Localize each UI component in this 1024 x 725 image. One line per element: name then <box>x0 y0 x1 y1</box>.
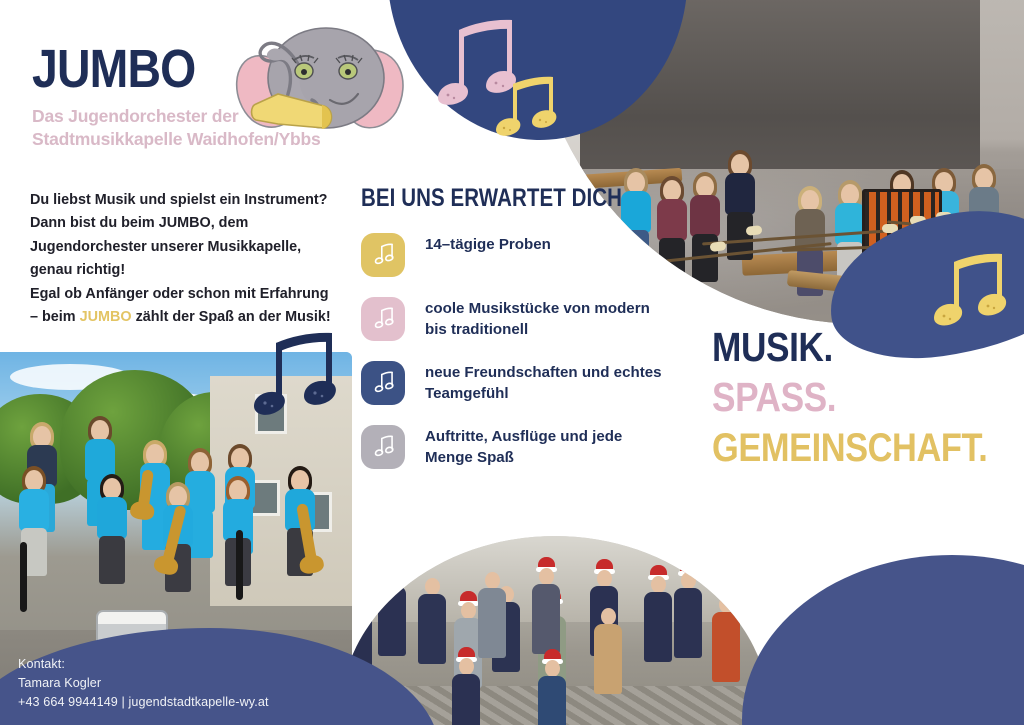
music-note-icon <box>361 233 405 277</box>
contact-label: Kontakt: <box>18 655 269 674</box>
brand-subtitle-line2: Stadtmusikkapelle Waidhofen/Ybbs <box>32 129 321 149</box>
music-note-icon <box>361 425 405 469</box>
brand-subtitle-line1: Das Jugendorchester der <box>32 106 238 126</box>
music-note-icon <box>361 297 405 341</box>
decorative-blob-bottom-right <box>742 555 1024 725</box>
intro-paragraph: Du liebst Musik und spielst ein Instrume… <box>30 189 360 330</box>
music-note-pair-yellow-icon <box>488 74 560 140</box>
music-note-icon <box>361 361 405 405</box>
feature-label: 14–tägige Proben <box>425 233 551 255</box>
contact-details[interactable]: +43 664 9944149 | jugendstadtkapelle-wy.… <box>18 693 269 712</box>
intro-line-1: Du liebst Musik und spielst ein Instrume… <box>30 192 327 208</box>
brand-subtitle: Das Jugendorchester der Stadtmusikkapell… <box>32 105 362 151</box>
feature-label: coole Musikstücke von modern bis traditi… <box>425 297 671 340</box>
music-note-pair-navy-icon <box>244 330 346 420</box>
feature-item: neue Freundschaften und echtes Teamgefüh… <box>361 361 671 405</box>
slogan-line-gemeinschaft: GEMEINSCHAFT. <box>712 427 970 469</box>
feature-item: coole Musikstücke von modern bis traditi… <box>361 297 671 341</box>
photo-clarinet <box>236 530 243 600</box>
slogan-line-musik: MUSIK. <box>712 326 970 369</box>
photo-clarinet <box>20 542 27 612</box>
brand-block: JUMBO Das Jugendorchester der Stadtmusik… <box>32 45 362 151</box>
intro-line-6-pre: – beim <box>30 309 80 325</box>
brand-title: JUMBO <box>32 45 316 95</box>
poster-canvas: JUMBO Das Jugendorchester der Stadtmusik… <box>0 0 1024 725</box>
feature-label: neue Freundschaften und echtes Teamgefüh… <box>425 361 671 404</box>
feature-label: Auftritte, Ausflüge und jede Menge Spaß <box>425 425 671 468</box>
features-heading: BEI UNS ERWARTET DICH <box>361 184 622 213</box>
feature-item: Auftritte, Ausflüge und jede Menge Spaß <box>361 425 671 469</box>
contact-block: Kontakt: Tamara Kogler +43 664 9944149 |… <box>18 655 269 712</box>
music-note-pair-yellow-icon <box>924 250 1012 330</box>
intro-line-6-post: zählt der Spaß an der Musik! <box>132 309 331 325</box>
contact-name: Tamara Kogler <box>18 674 269 693</box>
features-list: 14–tägige Proben coole Musikstücke von m… <box>361 233 671 489</box>
intro-line-3: Jugendorchester unserer Musikkapelle, <box>30 239 301 255</box>
feature-item: 14–tägige Proben <box>361 233 671 277</box>
intro-line-2: Dann bist du beim JUMBO, dem <box>30 215 248 231</box>
intro-line-4: genau richtig! <box>30 262 125 278</box>
slogan-line-spass: SPASS. <box>712 376 970 419</box>
slogan-block: MUSIK. SPASS. GEMEINSCHAFT. <box>712 326 1012 476</box>
intro-line-5: Egal ob Anfänger oder schon mit Erfahrun… <box>30 286 329 302</box>
intro-highlight-jumbo: JUMBO <box>80 309 132 325</box>
